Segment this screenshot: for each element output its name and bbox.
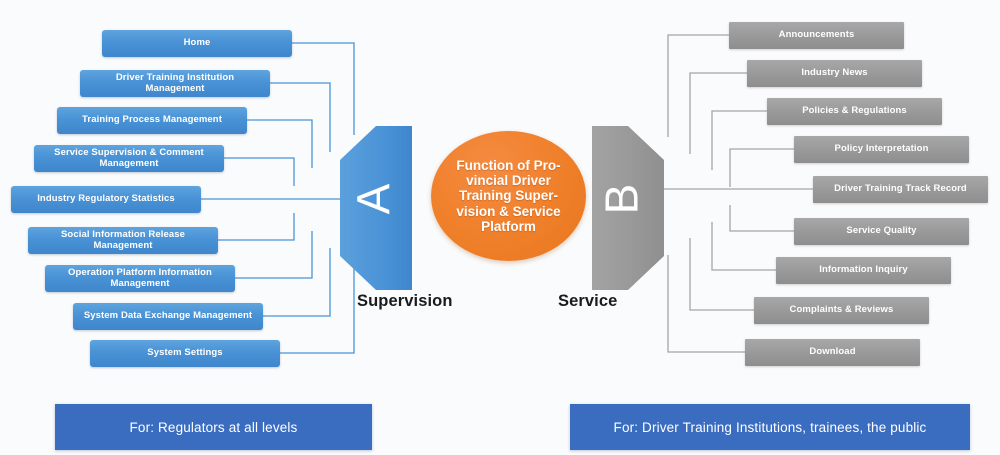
audience-banner-supervision: For: Regulators at all levels [55, 404, 372, 450]
service-item-6[interactable]: Information Inquiry [776, 257, 951, 284]
platform-hub-title: Function of Pro- vincial Driver Training… [447, 158, 569, 234]
supervision-item-3[interactable]: Service Supervision & Comment Management [34, 145, 224, 172]
supervision-item-label: Industry Regulatory Statistics [37, 194, 175, 205]
supervision-item-label: Home [184, 38, 211, 49]
supervision-caption: Supervision [357, 292, 453, 311]
supervision-item-label: Operation Platform Information Managemen… [51, 268, 229, 290]
supervision-item-label: Service Supervision & Comment Management [40, 148, 218, 170]
service-item-1[interactable]: Industry News [747, 60, 922, 87]
service-item-7[interactable]: Complaints & Reviews [754, 297, 929, 324]
supervision-item-7[interactable]: System Data Exchange Management [73, 303, 263, 330]
hub-line-1: Function of Pro- [456, 158, 560, 173]
supervision-item-6[interactable]: Operation Platform Information Managemen… [45, 265, 235, 292]
service-item-label: Announcements [779, 30, 855, 41]
service-caption: Service [558, 292, 617, 311]
hub-line-5: Platform [481, 219, 536, 234]
service-item-label: Industry News [801, 68, 867, 79]
service-item-label: Service Quality [846, 226, 916, 237]
supervision-item-8[interactable]: System Settings [90, 340, 280, 367]
service-item-label: Policies & Regulations [802, 106, 907, 117]
hub-line-2: vincial Driver [466, 173, 551, 188]
service-item-label: Complaints & Reviews [790, 305, 894, 316]
hub-line-4: vision & Service [456, 204, 560, 219]
service-item-label: Information Inquiry [819, 265, 907, 276]
service-item-label: Download [809, 347, 855, 358]
diagram-canvas: A B Function of Pro- vincial Driver Trai… [0, 0, 1000, 455]
supervision-arrow-letter: A [346, 184, 400, 215]
service-item-8[interactable]: Download [745, 339, 920, 366]
service-item-5[interactable]: Service Quality [794, 218, 969, 245]
audience-banner-service: For: Driver Training Institutions, train… [570, 404, 970, 450]
supervision-item-label: Driver Training Institution Management [86, 73, 264, 95]
supervision-item-2[interactable]: Training Process Management [57, 107, 247, 134]
supervision-item-label: Training Process Management [82, 115, 222, 126]
service-item-4[interactable]: Driver Training Track Record [813, 176, 988, 203]
supervision-item-label: System Settings [147, 348, 222, 359]
supervision-item-4[interactable]: Industry Regulatory Statistics [11, 186, 201, 213]
service-item-label: Policy Interpretation [835, 144, 929, 155]
service-item-0[interactable]: Announcements [729, 22, 904, 49]
service-item-label: Driver Training Track Record [834, 184, 967, 195]
service-arrow-letter: B [594, 184, 648, 215]
supervision-item-1[interactable]: Driver Training Institution Management [80, 70, 270, 97]
hub-line-3: Training Super- [459, 188, 558, 203]
supervision-item-label: Social Information Release Management [34, 230, 212, 252]
platform-hub: Function of Pro- vincial Driver Training… [431, 131, 586, 261]
service-item-2[interactable]: Policies & Regulations [767, 98, 942, 125]
supervision-item-5[interactable]: Social Information Release Management [28, 227, 218, 254]
supervision-item-0[interactable]: Home [102, 30, 292, 57]
service-item-3[interactable]: Policy Interpretation [794, 136, 969, 163]
supervision-item-label: System Data Exchange Management [84, 311, 252, 322]
